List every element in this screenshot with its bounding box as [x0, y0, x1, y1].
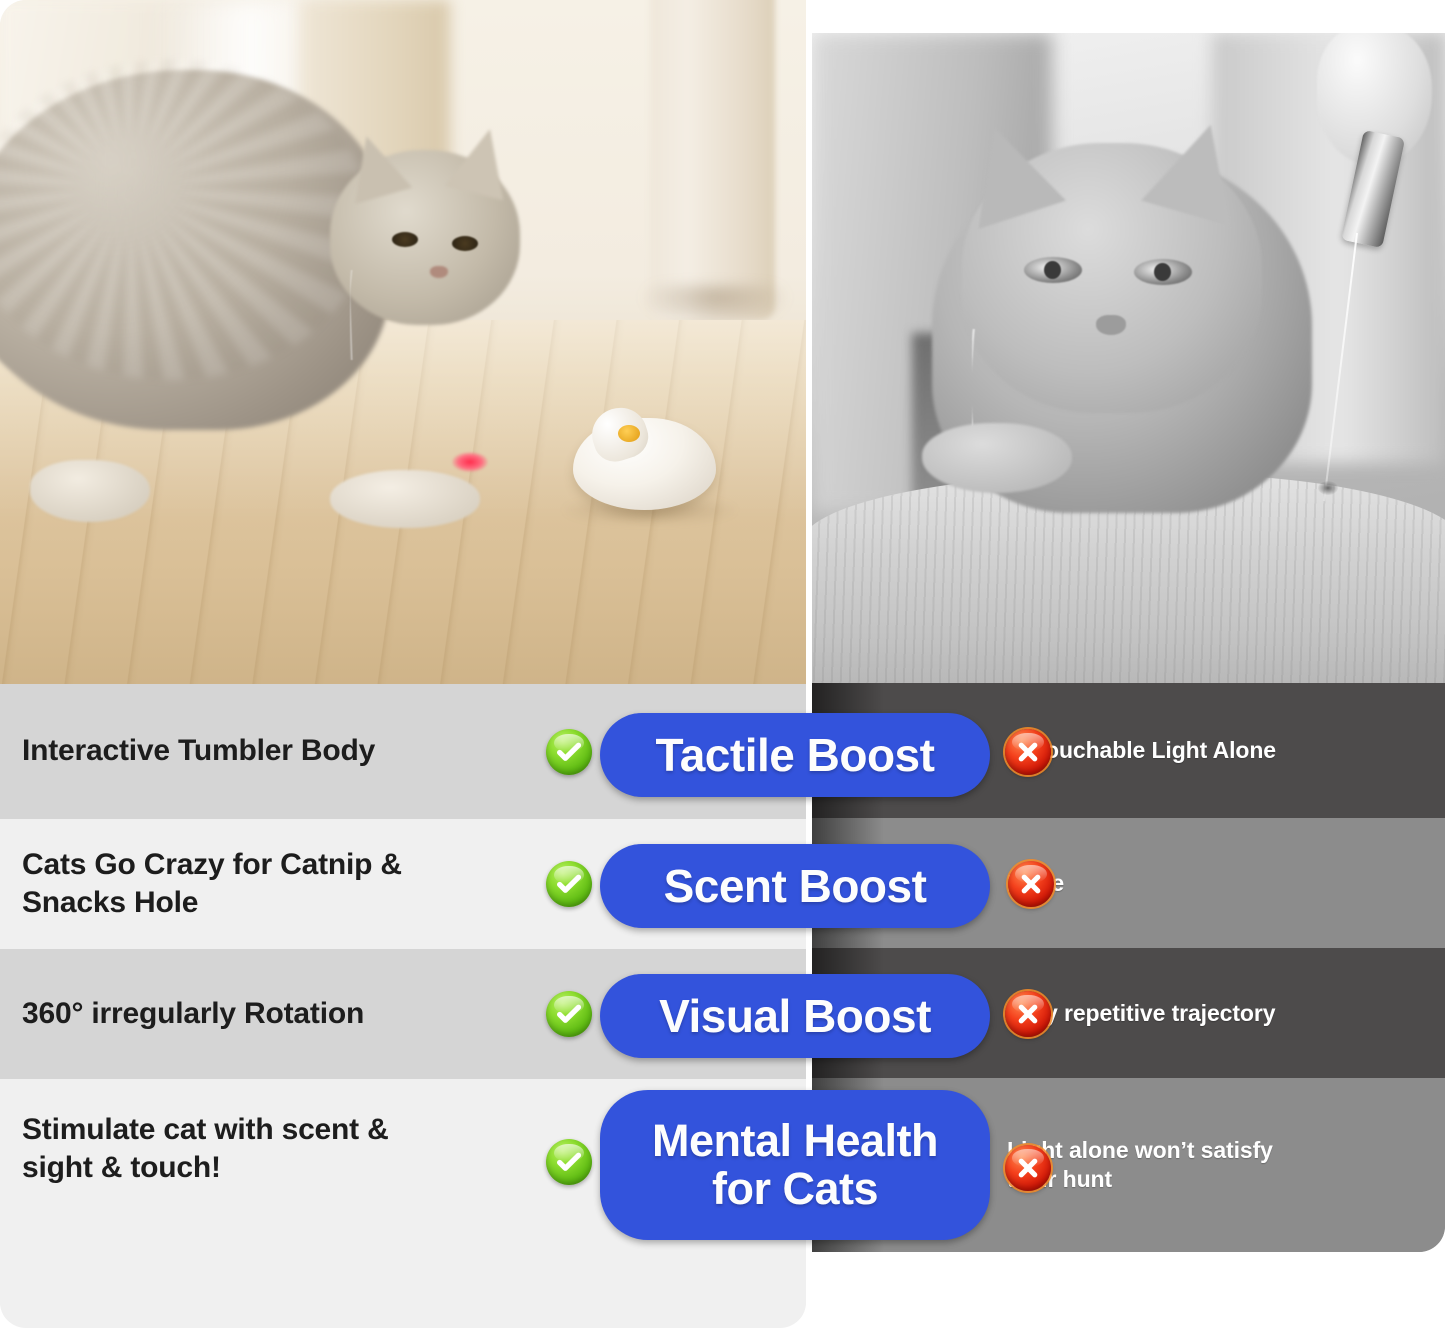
tumbler-toy-lens: [618, 425, 640, 442]
cat-paw-right: [330, 470, 480, 528]
cat-eye-left: [392, 232, 418, 247]
cross-circle-icon: [1005, 1145, 1051, 1191]
benefit-pill[interactable]: Scent Boost: [600, 844, 990, 928]
product-photo: [0, 0, 806, 684]
feature-text: 360° irregularly Rotation: [22, 995, 364, 1033]
check-circle-icon: [546, 729, 592, 775]
check-circle-icon: [546, 1139, 592, 1185]
scratching-post: [650, 0, 775, 320]
feature-text: Cats Go Crazy for Catnip & Snacks Hole: [22, 846, 402, 923]
cross-circle-icon: [1005, 991, 1051, 1037]
cat-pupil-right: [1154, 263, 1171, 281]
laser-dot: [1318, 481, 1338, 495]
benefit-pill[interactable]: Tactile Boost: [600, 713, 990, 797]
cat-eye-right: [452, 236, 478, 251]
benefit-pill-label: Mental Health for Cats: [652, 1117, 938, 1212]
cross-circle-icon: [1008, 861, 1054, 907]
laser-dot: [452, 452, 488, 472]
comparison-infographic: Untouchable Light Alone None Only repeti…: [0, 0, 1445, 1328]
benefit-pill-label: Visual Boost: [659, 992, 931, 1041]
feature-text: Interactive Tumbler Body: [22, 732, 375, 770]
cat-paw-left: [30, 460, 150, 522]
benefit-pill[interactable]: Mental Health for Cats: [600, 1090, 990, 1240]
check-circle-icon: [546, 861, 592, 907]
competitor-photo: [812, 33, 1445, 683]
cat-whiskers: [350, 270, 570, 360]
cross-circle-icon: [1005, 729, 1051, 775]
feature-text: Stimulate cat with scent & sight & touch…: [22, 1111, 389, 1188]
benefit-pill-label: Tactile Boost: [656, 731, 935, 780]
benefit-pill[interactable]: Visual Boost: [600, 974, 990, 1058]
cat-paw: [922, 423, 1072, 493]
check-circle-icon: [546, 991, 592, 1037]
benefit-pill-label: Scent Boost: [664, 862, 927, 911]
cat-pupil-left: [1044, 261, 1061, 279]
competitor-panel: Untouchable Light Alone None Only repeti…: [812, 33, 1445, 1252]
